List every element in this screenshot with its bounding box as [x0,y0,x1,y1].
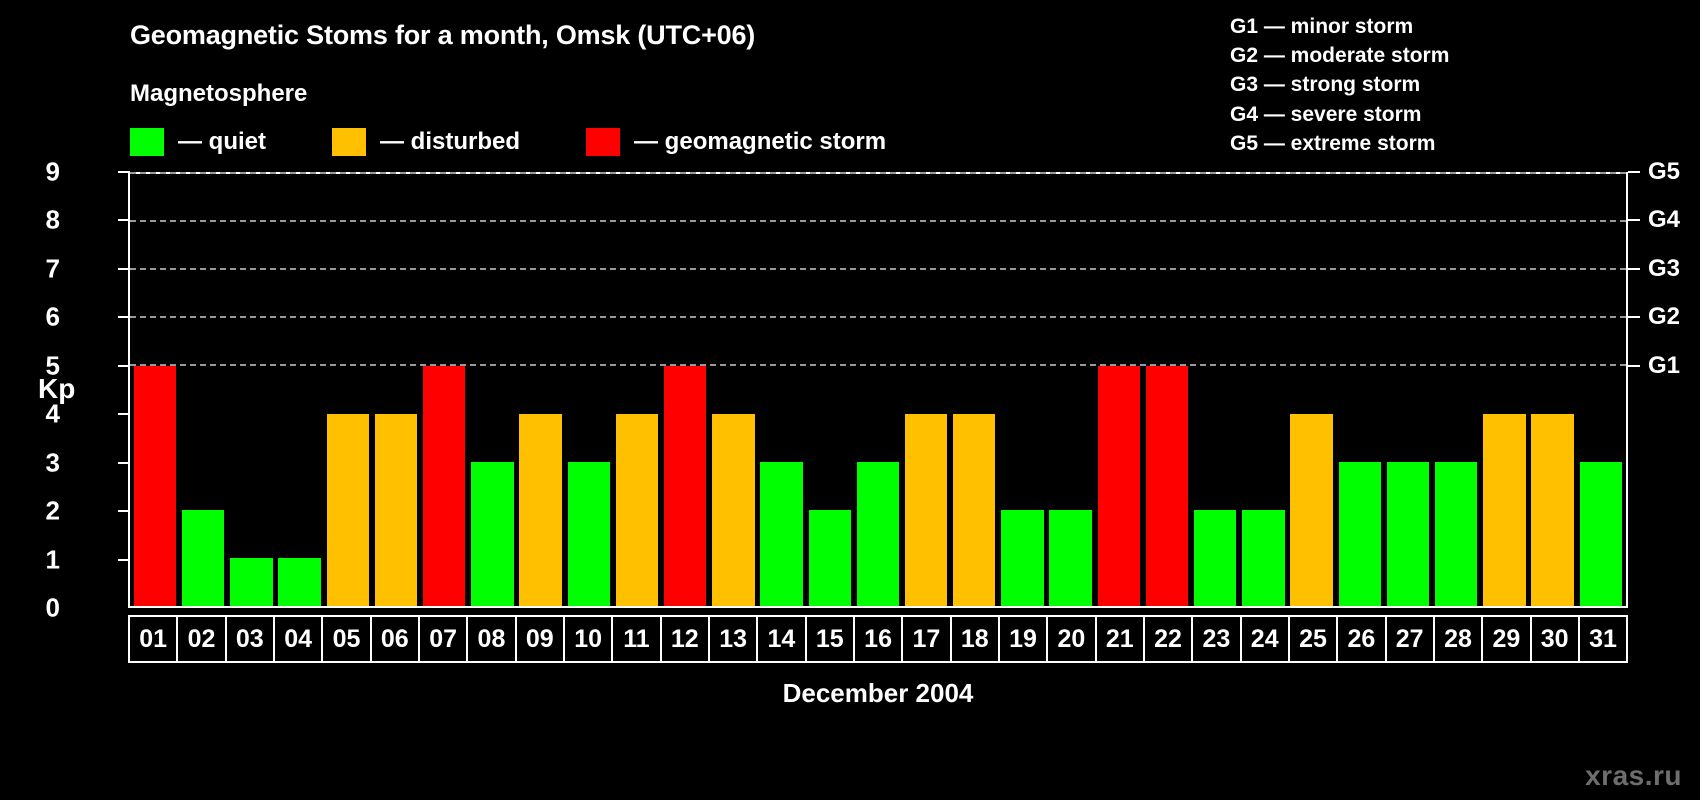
g-scale-line-g2: G2 — moderate storm [1230,41,1449,70]
y-tick-label-3: 3 [0,447,60,478]
y-tick-mark-3 [118,462,130,464]
bar-cell-16[interactable] [854,174,902,606]
bar-day-31[interactable] [1580,462,1622,606]
day-label-18[interactable]: 18 [952,617,1000,661]
bar-cell-18[interactable] [950,174,998,606]
day-label-31[interactable]: 31 [1580,617,1626,661]
bar-cell-11[interactable] [613,174,661,606]
bar-cell-15[interactable] [806,174,854,606]
bar-cell-25[interactable] [1288,174,1336,606]
g-tick-label-g3: G3 [1648,255,1680,283]
day-label-07[interactable]: 07 [420,617,468,661]
legend-swatch-storm [586,128,620,156]
g-scale-legend: G1 — minor storm G2 — moderate storm G3 … [1230,12,1449,158]
day-label-13[interactable]: 13 [710,617,758,661]
bar-day-24[interactable] [1242,510,1284,606]
day-label-03[interactable]: 03 [227,617,275,661]
x-axis-day-labels: 0102030405060708091011121314151617181920… [128,615,1628,663]
y-tick-label-9: 9 [0,157,60,188]
bar-day-23[interactable] [1194,510,1236,606]
bar-cell-20[interactable] [1047,174,1095,606]
bar-cell-12[interactable] [661,174,709,606]
day-label-08[interactable]: 08 [468,617,516,661]
day-label-19[interactable]: 19 [1000,617,1048,661]
bar-cell-13[interactable] [709,174,757,606]
x-axis-title: December 2004 [128,678,1628,709]
bar-cell-10[interactable] [565,174,613,606]
day-label-15[interactable]: 15 [807,617,855,661]
day-label-22[interactable]: 22 [1145,617,1193,661]
bar-day-17[interactable] [905,414,947,606]
y-tick-mark-4 [118,413,130,415]
day-label-21[interactable]: 21 [1097,617,1145,661]
y-tick-label-1: 1 [0,544,60,575]
bar-cell-19[interactable] [998,174,1046,606]
bar-cell-23[interactable] [1191,174,1239,606]
y-tick-mark-2 [118,510,130,512]
day-label-25[interactable]: 25 [1290,617,1338,661]
day-label-14[interactable]: 14 [758,617,806,661]
bar-cell-30[interactable] [1528,174,1576,606]
legend-label-storm: — geomagnetic storm [634,128,886,156]
y-tick-mark-7 [118,268,130,270]
g-tick-mark-g4 [1628,219,1640,221]
bar-day-08[interactable] [471,462,513,606]
bar-day-16[interactable] [857,462,899,606]
g-tick-label-g2: G2 [1648,303,1680,331]
y-tick-label-6: 6 [0,302,60,333]
day-label-23[interactable]: 23 [1193,617,1241,661]
y-tick-label-8: 8 [0,205,60,236]
legend-item-quiet: — quiet [130,128,266,156]
y-tick-label-0: 0 [0,593,60,624]
y-tick-label-5: 5 [0,350,60,381]
g-scale-line-g3: G3 — strong storm [1230,70,1449,99]
bar-cell-31[interactable] [1577,174,1625,606]
bar-day-18[interactable] [953,414,995,606]
g-scale-line-g4: G4 — severe storm [1230,100,1449,129]
bar-cell-21[interactable] [1095,174,1143,606]
bar-day-11[interactable] [616,414,658,606]
bar-cell-03[interactable] [227,174,275,606]
y-tick-label-7: 7 [0,253,60,284]
y-tick-mark-8 [118,219,130,221]
day-label-28[interactable]: 28 [1435,617,1483,661]
bar-day-29[interactable] [1483,414,1525,606]
legend-heading: Magnetosphere [130,80,307,108]
bar-day-27[interactable] [1387,462,1429,606]
bar-day-25[interactable] [1290,414,1332,606]
day-label-24[interactable]: 24 [1242,617,1290,661]
legend: — quiet — disturbed — geomagnetic storm [130,127,886,157]
legend-item-disturbed: — disturbed [332,128,520,156]
g-tick-label-g4: G4 [1648,206,1680,234]
bar-day-09[interactable] [519,414,561,606]
plot-area [128,172,1628,608]
day-label-02[interactable]: 02 [178,617,226,661]
g-tick-mark-g5 [1628,171,1640,173]
bar-cell-22[interactable] [1143,174,1191,606]
g-tick-mark-g2 [1628,316,1640,318]
bar-day-15[interactable] [809,510,851,606]
bar-day-14[interactable] [760,462,802,606]
g-tick-label-g1: G1 [1648,352,1680,380]
g-tick-mark-g3 [1628,268,1640,270]
g-tick-label-g5: G5 [1648,158,1680,186]
bar-cell-17[interactable] [902,174,950,606]
day-label-01[interactable]: 01 [130,617,178,661]
bar-cell-07[interactable] [420,174,468,606]
day-label-12[interactable]: 12 [662,617,710,661]
bar-cell-01[interactable] [131,174,179,606]
g-scale-line-g1: G1 — minor storm [1230,12,1449,41]
day-label-04[interactable]: 04 [275,617,323,661]
bar-cell-04[interactable] [276,174,324,606]
bar-cell-27[interactable] [1384,174,1432,606]
day-label-26[interactable]: 26 [1338,617,1386,661]
bar-cell-28[interactable] [1432,174,1480,606]
y-tick-mark-1 [118,559,130,561]
bar-day-22[interactable] [1146,366,1188,606]
bar-day-26[interactable] [1339,462,1381,606]
bar-day-30[interactable] [1531,414,1573,606]
bar-cell-02[interactable] [179,174,227,606]
bar-day-12[interactable] [664,366,706,606]
day-label-09[interactable]: 09 [517,617,565,661]
page-title: Geomagnetic Stoms for a month, Omsk (UTC… [130,20,755,51]
bar-day-28[interactable] [1435,462,1477,606]
bar-cell-29[interactable] [1480,174,1528,606]
bar-day-02[interactable] [182,510,224,606]
bar-day-01[interactable] [134,366,176,606]
y-tick-mark-6 [118,316,130,318]
bar-day-05[interactable] [327,414,369,606]
y-tick-mark-9 [118,171,130,173]
y-tick-label-4: 4 [0,399,60,430]
plot-inner [130,174,1626,606]
day-label-27[interactable]: 27 [1387,617,1435,661]
g-tick-mark-g1 [1628,365,1640,367]
bar-day-13[interactable] [712,414,754,606]
bar-cell-05[interactable] [324,174,372,606]
y-tick-mark-5 [118,365,130,367]
day-label-30[interactable]: 30 [1532,617,1580,661]
legend-item-storm: — geomagnetic storm [586,128,886,156]
legend-swatch-disturbed [332,128,366,156]
bar-cell-24[interactable] [1239,174,1287,606]
legend-label-quiet: — quiet [178,128,266,156]
day-label-11[interactable]: 11 [613,617,661,661]
bar-day-21[interactable] [1098,366,1140,606]
legend-swatch-quiet [130,128,164,156]
day-label-16[interactable]: 16 [855,617,903,661]
bar-day-19[interactable] [1001,510,1043,606]
bar-day-07[interactable] [423,366,465,606]
day-label-05[interactable]: 05 [323,617,371,661]
bar-cell-09[interactable] [517,174,565,606]
g-scale-line-g5: G5 — extreme storm [1230,129,1449,158]
y-tick-label-2: 2 [0,496,60,527]
bar-cell-06[interactable] [372,174,420,606]
bar-cell-26[interactable] [1336,174,1384,606]
day-label-20[interactable]: 20 [1048,617,1096,661]
bar-day-10[interactable] [568,462,610,606]
watermark: xras.ru [1585,760,1682,792]
day-label-10[interactable]: 10 [565,617,613,661]
legend-label-disturbed: — disturbed [380,128,520,156]
bar-day-03[interactable] [230,558,272,606]
bar-day-06[interactable] [375,414,417,606]
bar-cell-08[interactable] [468,174,516,606]
bar-cell-14[interactable] [757,174,805,606]
day-label-06[interactable]: 06 [372,617,420,661]
bar-series [130,174,1626,606]
day-label-17[interactable]: 17 [903,617,951,661]
day-label-29[interactable]: 29 [1483,617,1531,661]
bar-day-04[interactable] [278,558,320,606]
bar-day-20[interactable] [1049,510,1091,606]
